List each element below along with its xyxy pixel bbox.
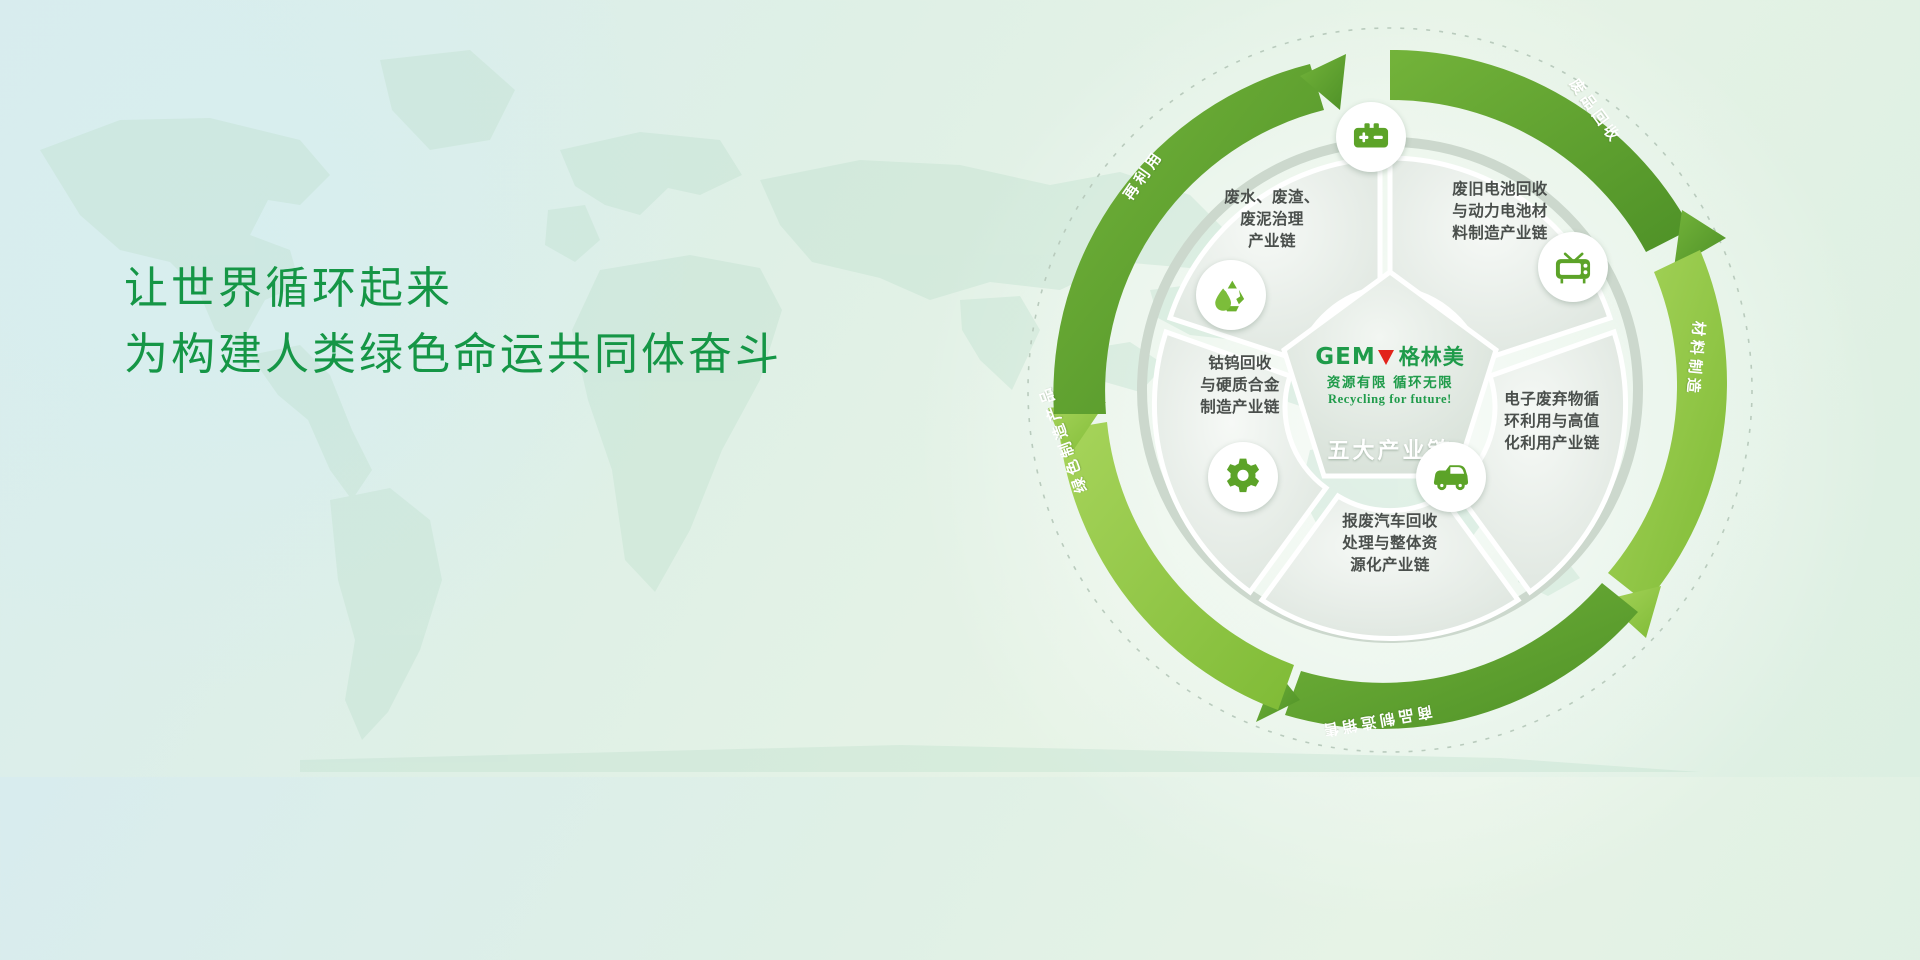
banner-root: 让世界循环起来 为构建人类绿色命运共同体奋斗 — [0, 0, 1920, 777]
petal-label-cobalt: 钴钨回收 与硬质合金 制造产业链 — [1150, 352, 1330, 418]
petal-label-vehicle: 报废汽车回收 处理与整体资 源化产业链 — [1300, 510, 1480, 576]
car-icon — [1430, 456, 1472, 498]
headline-block: 让世界循环起来 为构建人类绿色命运共同体奋斗 — [124, 262, 782, 382]
brand-triangle-icon — [1378, 350, 1394, 365]
battery-icon-bubble[interactable] — [1336, 102, 1406, 172]
gear-icon-bubble[interactable] — [1208, 442, 1278, 512]
headline-line-1: 让世界循环起来 — [124, 262, 782, 316]
petal-label-battery: 废旧电池回收 与动力电池材 料制造产业链 — [1410, 178, 1590, 244]
tv-icon — [1552, 246, 1594, 288]
petal-label-ewaste: 电子废弃物循 环利用与高值 化利用产业链 — [1462, 388, 1642, 454]
recycle-water-icon-bubble[interactable] — [1196, 260, 1266, 330]
headline-line-2: 为构建人类绿色命运共同体奋斗 — [124, 328, 782, 382]
petal-label-wastewater: 废水、废渣、 废泥治理 产业链 — [1182, 186, 1362, 252]
recycle-water-icon — [1210, 274, 1252, 316]
gear-icon — [1222, 456, 1264, 498]
brand-cn: 格林美 — [1399, 345, 1465, 369]
battery-icon — [1350, 116, 1392, 158]
five-industry-chain-wheel: GEM 格林美 资源有限 循环无限 Recycling for future! … — [1010, 10, 1770, 770]
